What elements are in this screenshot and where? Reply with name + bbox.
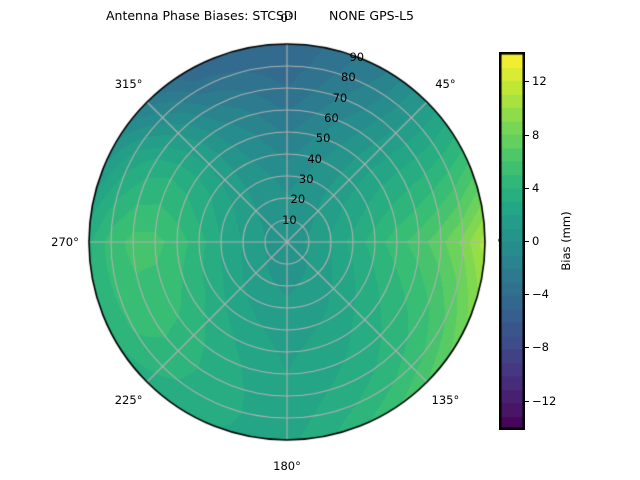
polar-radial-label-90: 90: [349, 50, 364, 64]
colorbar-gradient: [499, 52, 525, 430]
polar-radial-label-20: 20: [291, 192, 306, 206]
colorbar-tick-label: −12: [532, 394, 556, 408]
polar-radial-label-70: 70: [333, 91, 348, 105]
colorbar-tick-mark: [525, 241, 529, 242]
colorbar-tick-mark: [525, 401, 529, 402]
polar-angle-label-180: 180°: [273, 459, 301, 473]
polar-heatmap-surface[interactable]: [87, 42, 487, 442]
polar-radial-label-60: 60: [324, 111, 339, 125]
polar-angle-label-0: 0°: [280, 11, 293, 25]
colorbar-tick-label: 4: [532, 181, 539, 195]
polar-angle-label-225: 225°: [115, 393, 143, 407]
colorbar[interactable]: −12−8−404812: [499, 52, 525, 430]
polar-radial-label-40: 40: [307, 152, 322, 166]
polar-angle-label-45: 45°: [435, 77, 455, 91]
polar-angle-label-315: 315°: [115, 77, 143, 91]
colorbar-tick-label: 8: [532, 128, 539, 142]
colorbar-tick-mark: [525, 294, 529, 295]
colorbar-tick-mark: [525, 188, 529, 189]
colorbar-tick-mark: [525, 135, 529, 136]
polar-radial-label-80: 80: [341, 70, 356, 84]
colorbar-tick-mark: [525, 81, 529, 82]
colorbar-tick-label: −8: [532, 340, 549, 354]
figure-canvas: Antenna Phase Biases: STCSDI NONE GPS-L5…: [0, 0, 640, 480]
colorbar-tick-mark: [525, 347, 529, 348]
polar-plot[interactable]: 0°45°90135°180°225°270°315°1020304050607…: [87, 42, 487, 442]
colorbar-tick-label: −4: [532, 287, 549, 301]
colorbar-tick-label: 0: [532, 234, 539, 248]
colorbar-tick-label: 12: [532, 74, 547, 88]
colorbar-label: Bias (mm): [559, 211, 573, 270]
polar-radial-label-50: 50: [316, 131, 331, 145]
polar-radial-label-30: 30: [299, 172, 314, 186]
polar-radial-label-10: 10: [282, 213, 297, 227]
figure-title: Antenna Phase Biases: STCSDI NONE GPS-L5: [0, 8, 520, 23]
polar-angle-label-135: 135°: [432, 393, 460, 407]
polar-angle-label-270: 270°: [51, 235, 79, 249]
